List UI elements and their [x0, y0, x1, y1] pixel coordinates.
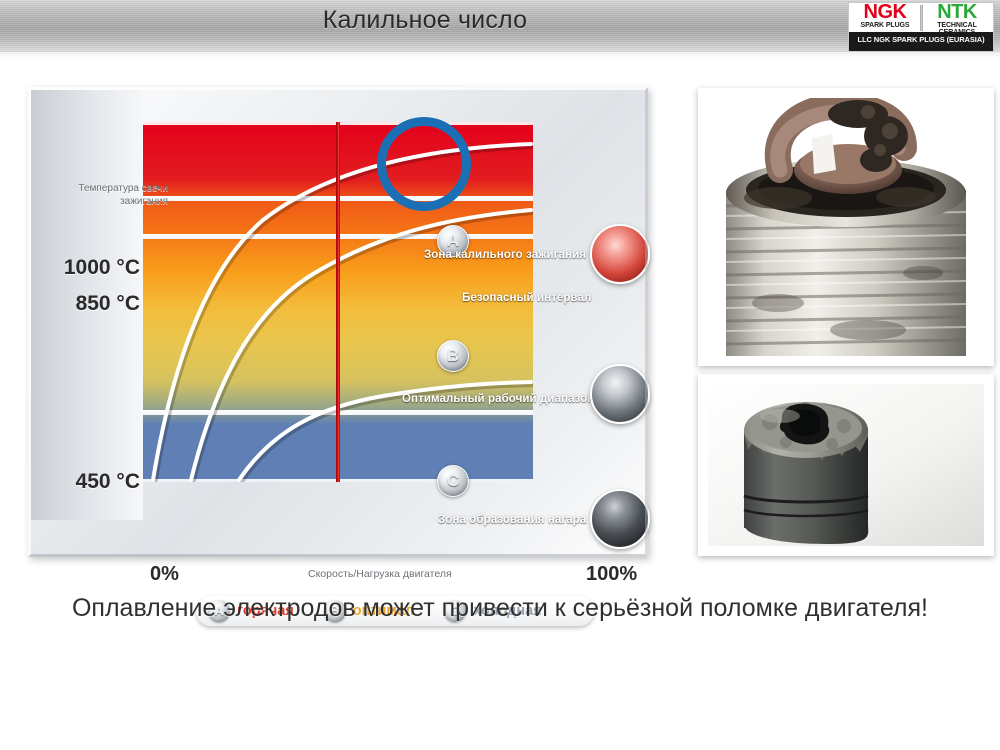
spark-plug-photo	[698, 88, 994, 366]
logo-ntk-block: NTK TECHNICAL CERAMICS	[921, 3, 993, 33]
logo-ntk-wordmark: NTK	[921, 2, 993, 24]
x-tick-0: 0%	[150, 563, 179, 586]
y-axis-title: Температура свечи зажигания	[58, 182, 168, 208]
logo-top-row: NGK SPARK PLUGS NTK TECHNICAL CERAMICS	[849, 3, 993, 33]
x-tick-100: 100%	[586, 563, 637, 586]
y-tick-850: 850 °C	[76, 292, 140, 316]
zone-label-preignition: Зона калильного зажигания	[424, 249, 586, 261]
spark-plug-photo-inner	[708, 98, 984, 356]
spark-plug-icon-overheated	[590, 224, 650, 284]
zone-badge-c: C	[437, 465, 469, 497]
zone-badge-b: B	[437, 340, 469, 372]
slide-root: Калильное число NGK SPARK PLUGS NTK TECH…	[0, 0, 1000, 750]
spark-plug-illustration	[708, 98, 984, 356]
logo-company-name: LLC NGK SPARK PLUGS (EURASIA)	[849, 35, 993, 44]
page-title: Калильное число	[0, 6, 850, 35]
logo-divider	[920, 5, 923, 31]
header-underline	[0, 52, 1000, 61]
piston-photo	[698, 374, 994, 556]
operating-point-marker-line	[336, 122, 340, 482]
y-tick-450: 450 °C	[76, 470, 140, 494]
logo-company-bar: LLC NGK SPARK PLUGS (EURASIA)	[849, 32, 993, 51]
y-tick-1000: 1000 °C	[64, 256, 140, 280]
zone-label-optimal-range: Оптимальный рабочий диапазон	[402, 393, 594, 405]
ngk-ntk-logo: NGK SPARK PLUGS NTK TECHNICAL CERAMICS L…	[848, 2, 994, 52]
piston-illustration	[708, 384, 984, 546]
logo-ngk-wordmark: NGK	[849, 2, 921, 24]
spark-plug-icon-normal	[590, 364, 650, 424]
zone-label-safe-interval: Безопасный интервал	[462, 292, 591, 304]
heat-range-chart: A B C Зона калильного зажигания Безопасн…	[28, 87, 648, 557]
slide-caption: Оплавление электродов может привести к с…	[60, 592, 940, 624]
logo-ngk-block: NGK SPARK PLUGS	[849, 3, 921, 33]
logo-ngk-subtitle: SPARK PLUGS	[849, 22, 921, 29]
x-axis-title: Скорость/Нагрузка двигателя	[308, 568, 452, 580]
piston-photo-inner	[708, 384, 984, 546]
spark-plug-icon-fouled	[590, 489, 650, 549]
zone-label-fouling: Зона образования нагара	[438, 514, 586, 526]
